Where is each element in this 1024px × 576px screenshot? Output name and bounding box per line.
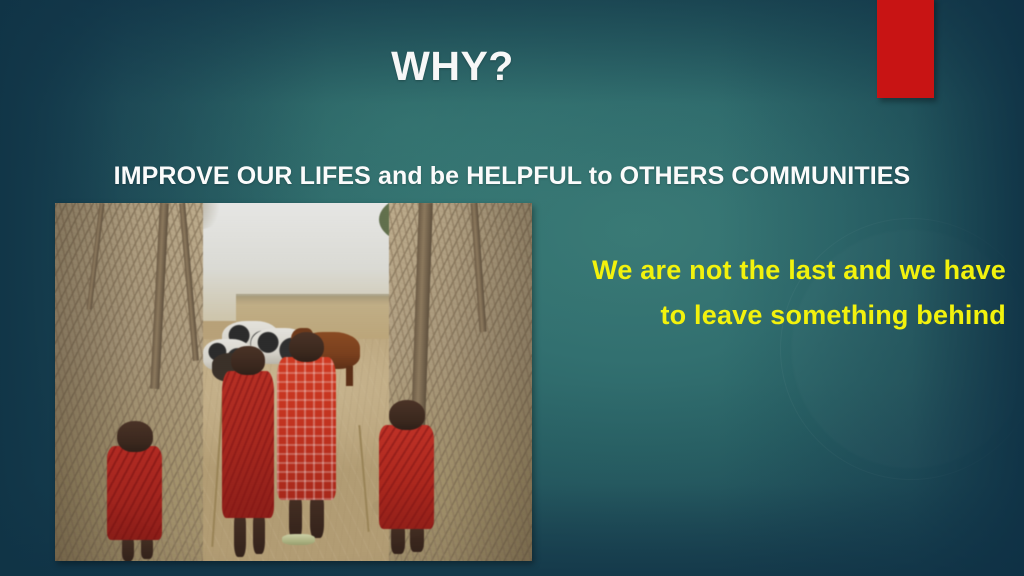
quote-line-2: to leave something behind <box>520 293 1006 338</box>
photo-content <box>55 203 532 561</box>
quote-text-block: We are not the last and we have to leave… <box>520 248 1006 337</box>
presentation-slide: WHY? IMPROVE OUR LIFES and be HELPFUL to… <box>0 0 1024 576</box>
photo-vignette <box>55 203 532 561</box>
quote-line-1: We are not the last and we have <box>520 248 1006 293</box>
slide-title: WHY? <box>0 43 905 90</box>
village-photo <box>55 203 532 561</box>
slide-subtitle: IMPROVE OUR LIFES and be HELPFUL to OTHE… <box>0 162 1024 191</box>
